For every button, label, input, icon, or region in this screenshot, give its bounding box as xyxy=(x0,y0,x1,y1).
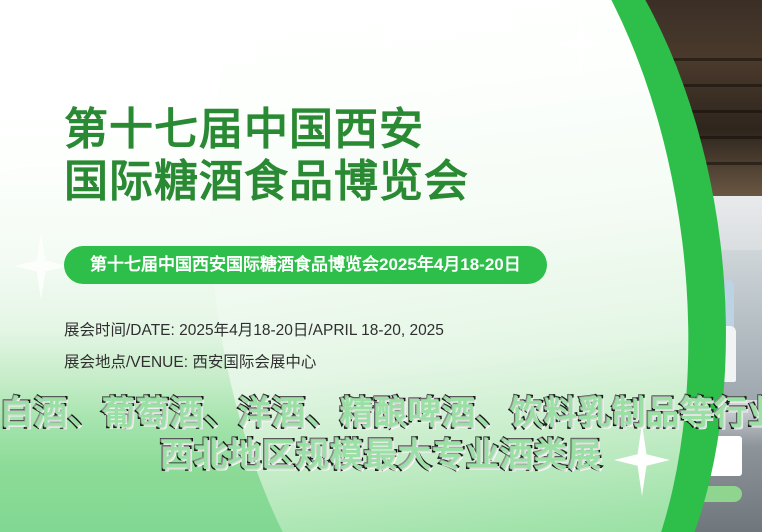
page-title: 第十七届中国西安 国际糖酒食品博览会 xyxy=(64,104,469,208)
sparkle-icon-top-right xyxy=(558,14,604,74)
slogan-line-1: 白酒、葡萄酒、洋酒、精酿啤酒、饮料乳制品等行业盛会 xyxy=(0,386,762,434)
event-pill-badge: 第十七届中国西安国际糖酒食品博览会2025年4月18-20日 xyxy=(64,246,547,284)
slogan-line-2: 西北地区规模最大专业酒类展 xyxy=(0,428,762,476)
event-venue-line: 展会地点/VENUE: 西安国际会展中心 xyxy=(64,350,316,372)
event-date-line: 展会时间/DATE: 2025年4月18-20日/APRIL 18-20, 20… xyxy=(64,318,444,340)
sparkle-icon-left xyxy=(14,232,68,300)
title-line-2: 国际糖酒食品博览会 xyxy=(64,156,469,208)
title-line-1: 第十七届中国西安 xyxy=(64,104,469,156)
promotional-banner: 第十七届中国西安 国际糖酒食品博览会 第十七届中国西安国际糖酒食品博览会2025… xyxy=(0,0,762,532)
